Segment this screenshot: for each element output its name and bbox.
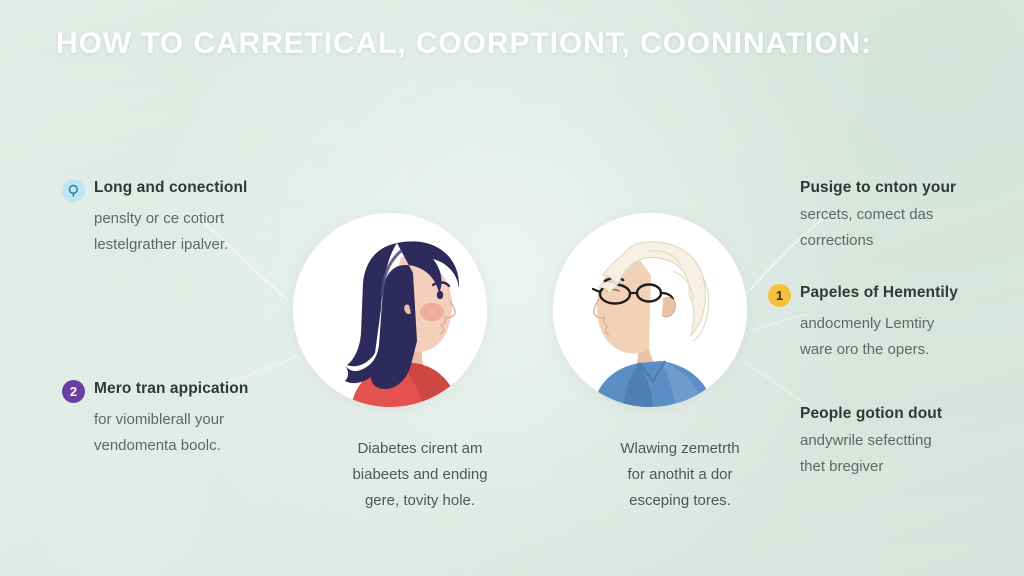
caption-line: biabeets and ending — [300, 462, 540, 488]
callout-body: andocmenly Lemtiry ware oro the opers. — [768, 311, 983, 362]
callout-title: Papeles of Hementily — [800, 283, 958, 303]
callout-title: Pusige to cnton your — [800, 178, 956, 198]
number-badge-2: 2 — [62, 380, 85, 403]
callout-line: andywrile sefectting — [800, 428, 1015, 454]
callout-header: People gotion dout — [800, 404, 1015, 424]
caption-young-woman: Diabetes cirent am biabeets and ending g… — [300, 436, 540, 513]
magnifier-icon — [62, 179, 85, 202]
caption-line: gere, tovity hole. — [300, 488, 540, 514]
callout-body: andywrile sefectting thet bregiver — [800, 428, 1015, 479]
callout-header: Pusige to cnton your — [800, 178, 1015, 198]
callout-line: sercets, comect das — [800, 202, 1015, 228]
callout-line: for viomiblerall your — [94, 407, 277, 433]
callout-line: corrections — [800, 228, 1015, 254]
callout-title: People gotion dout — [800, 404, 942, 424]
callout-body: penslty or ce cotiort lestelgrather ipal… — [62, 206, 277, 257]
callout-middle-right: 1 Papeles of Hementily andocmenly Lemtir… — [768, 283, 983, 362]
callout-body: sercets, comect das corrections — [800, 202, 1015, 253]
magnifier-glyph — [67, 184, 80, 197]
callout-top-left: Long and conectionl penslty or ce cotior… — [62, 178, 277, 257]
callout-title: Long and conectionl — [94, 178, 247, 198]
caption-line: for anothit a dor — [560, 462, 800, 488]
portrait-elderly-man — [553, 213, 747, 407]
page-title: HOW TO CARRETICAL, COORPTIONT, COONINATI… — [56, 27, 986, 62]
caption-elderly-man: Wlawing zemetrth for anothit a dor escep… — [560, 436, 800, 513]
callout-line: lestelgrather ipalver. — [94, 232, 277, 258]
caption-line: esceping tores. — [560, 488, 800, 514]
young-woman-illustration — [293, 213, 487, 407]
portrait-young-woman — [293, 213, 487, 407]
callout-title: Mero tran appication — [94, 379, 248, 399]
callout-header: 1 Papeles of Hementily — [768, 283, 983, 307]
callout-line: thet bregiver — [800, 454, 1015, 480]
number-badge-1: 1 — [768, 284, 791, 307]
callout-body: for viomiblerall your vendomenta boolc. — [62, 407, 277, 458]
callout-line: penslty or ce cotiort — [94, 206, 277, 232]
callout-header: 2 Mero tran appication — [62, 379, 277, 403]
callout-line: andocmenly Lemtiry — [800, 311, 983, 337]
caption-line: Wlawing zemetrth — [560, 436, 800, 462]
callout-header: Long and conectionl — [62, 178, 277, 202]
callout-line: vendomenta boolc. — [94, 433, 277, 459]
callout-bottom-left: 2 Mero tran appication for viomiblerall … — [62, 379, 277, 458]
callout-top-right: Pusige to cnton your sercets, comect das… — [800, 178, 1015, 253]
caption-line: Diabetes cirent am — [300, 436, 540, 462]
callout-bottom-right: People gotion dout andywrile sefectting … — [800, 404, 1015, 479]
infographic-canvas: HOW TO CARRETICAL, COORPTIONT, COONINATI… — [0, 0, 1024, 576]
elderly-man-illustration — [553, 213, 747, 407]
callout-line: ware oro the opers. — [800, 337, 983, 363]
